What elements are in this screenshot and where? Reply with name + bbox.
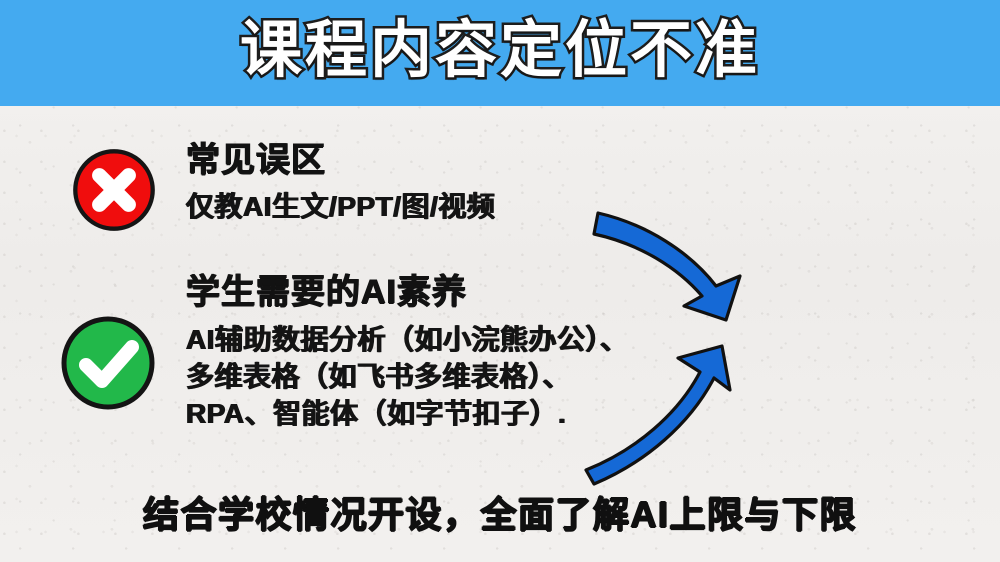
green-check-circle-icon [58, 313, 158, 413]
common-mistakes-body: 仅教AI生文/PPT/图/视频 [186, 189, 495, 226]
ai-literacy-line-2: 多维表格（如飞书多维表格）、 [186, 359, 629, 396]
red-x-circle-icon [71, 147, 157, 233]
section-common-mistakes: 常见误区 仅教AI生文/PPT/图/视频 [186, 140, 495, 226]
ai-literacy-line-1: AI辅助数据分析（如小浣熊办公）、 [186, 322, 629, 359]
title-banner: 课程内容定位不准 [0, 0, 1000, 106]
page-title: 课程内容定位不准 [240, 20, 760, 86]
section-ai-literacy: 学生需要的AI素养 AI辅助数据分析（如小浣熊办公）、 多维表格（如飞书多维表格… [186, 272, 629, 433]
ai-literacy-heading: 学生需要的AI素养 [186, 272, 629, 312]
slide-root: 课程内容定位不准 常见误区 仅教AI生文/PPT/图/视频 学生需要的AI素养 … [0, 0, 1000, 562]
common-mistakes-heading: 常见误区 [186, 140, 495, 180]
common-mistakes-line-1: 仅教AI生文/PPT/图/视频 [186, 189, 495, 226]
footer-conclusion: 结合学校情况开设，全面了解AI上限与下限 [0, 486, 1000, 538]
ai-literacy-body: AI辅助数据分析（如小浣熊办公）、 多维表格（如飞书多维表格）、 RPA、智能体… [186, 322, 629, 433]
ai-literacy-line-3: RPA、智能体（如字节扣子）. [186, 396, 629, 433]
